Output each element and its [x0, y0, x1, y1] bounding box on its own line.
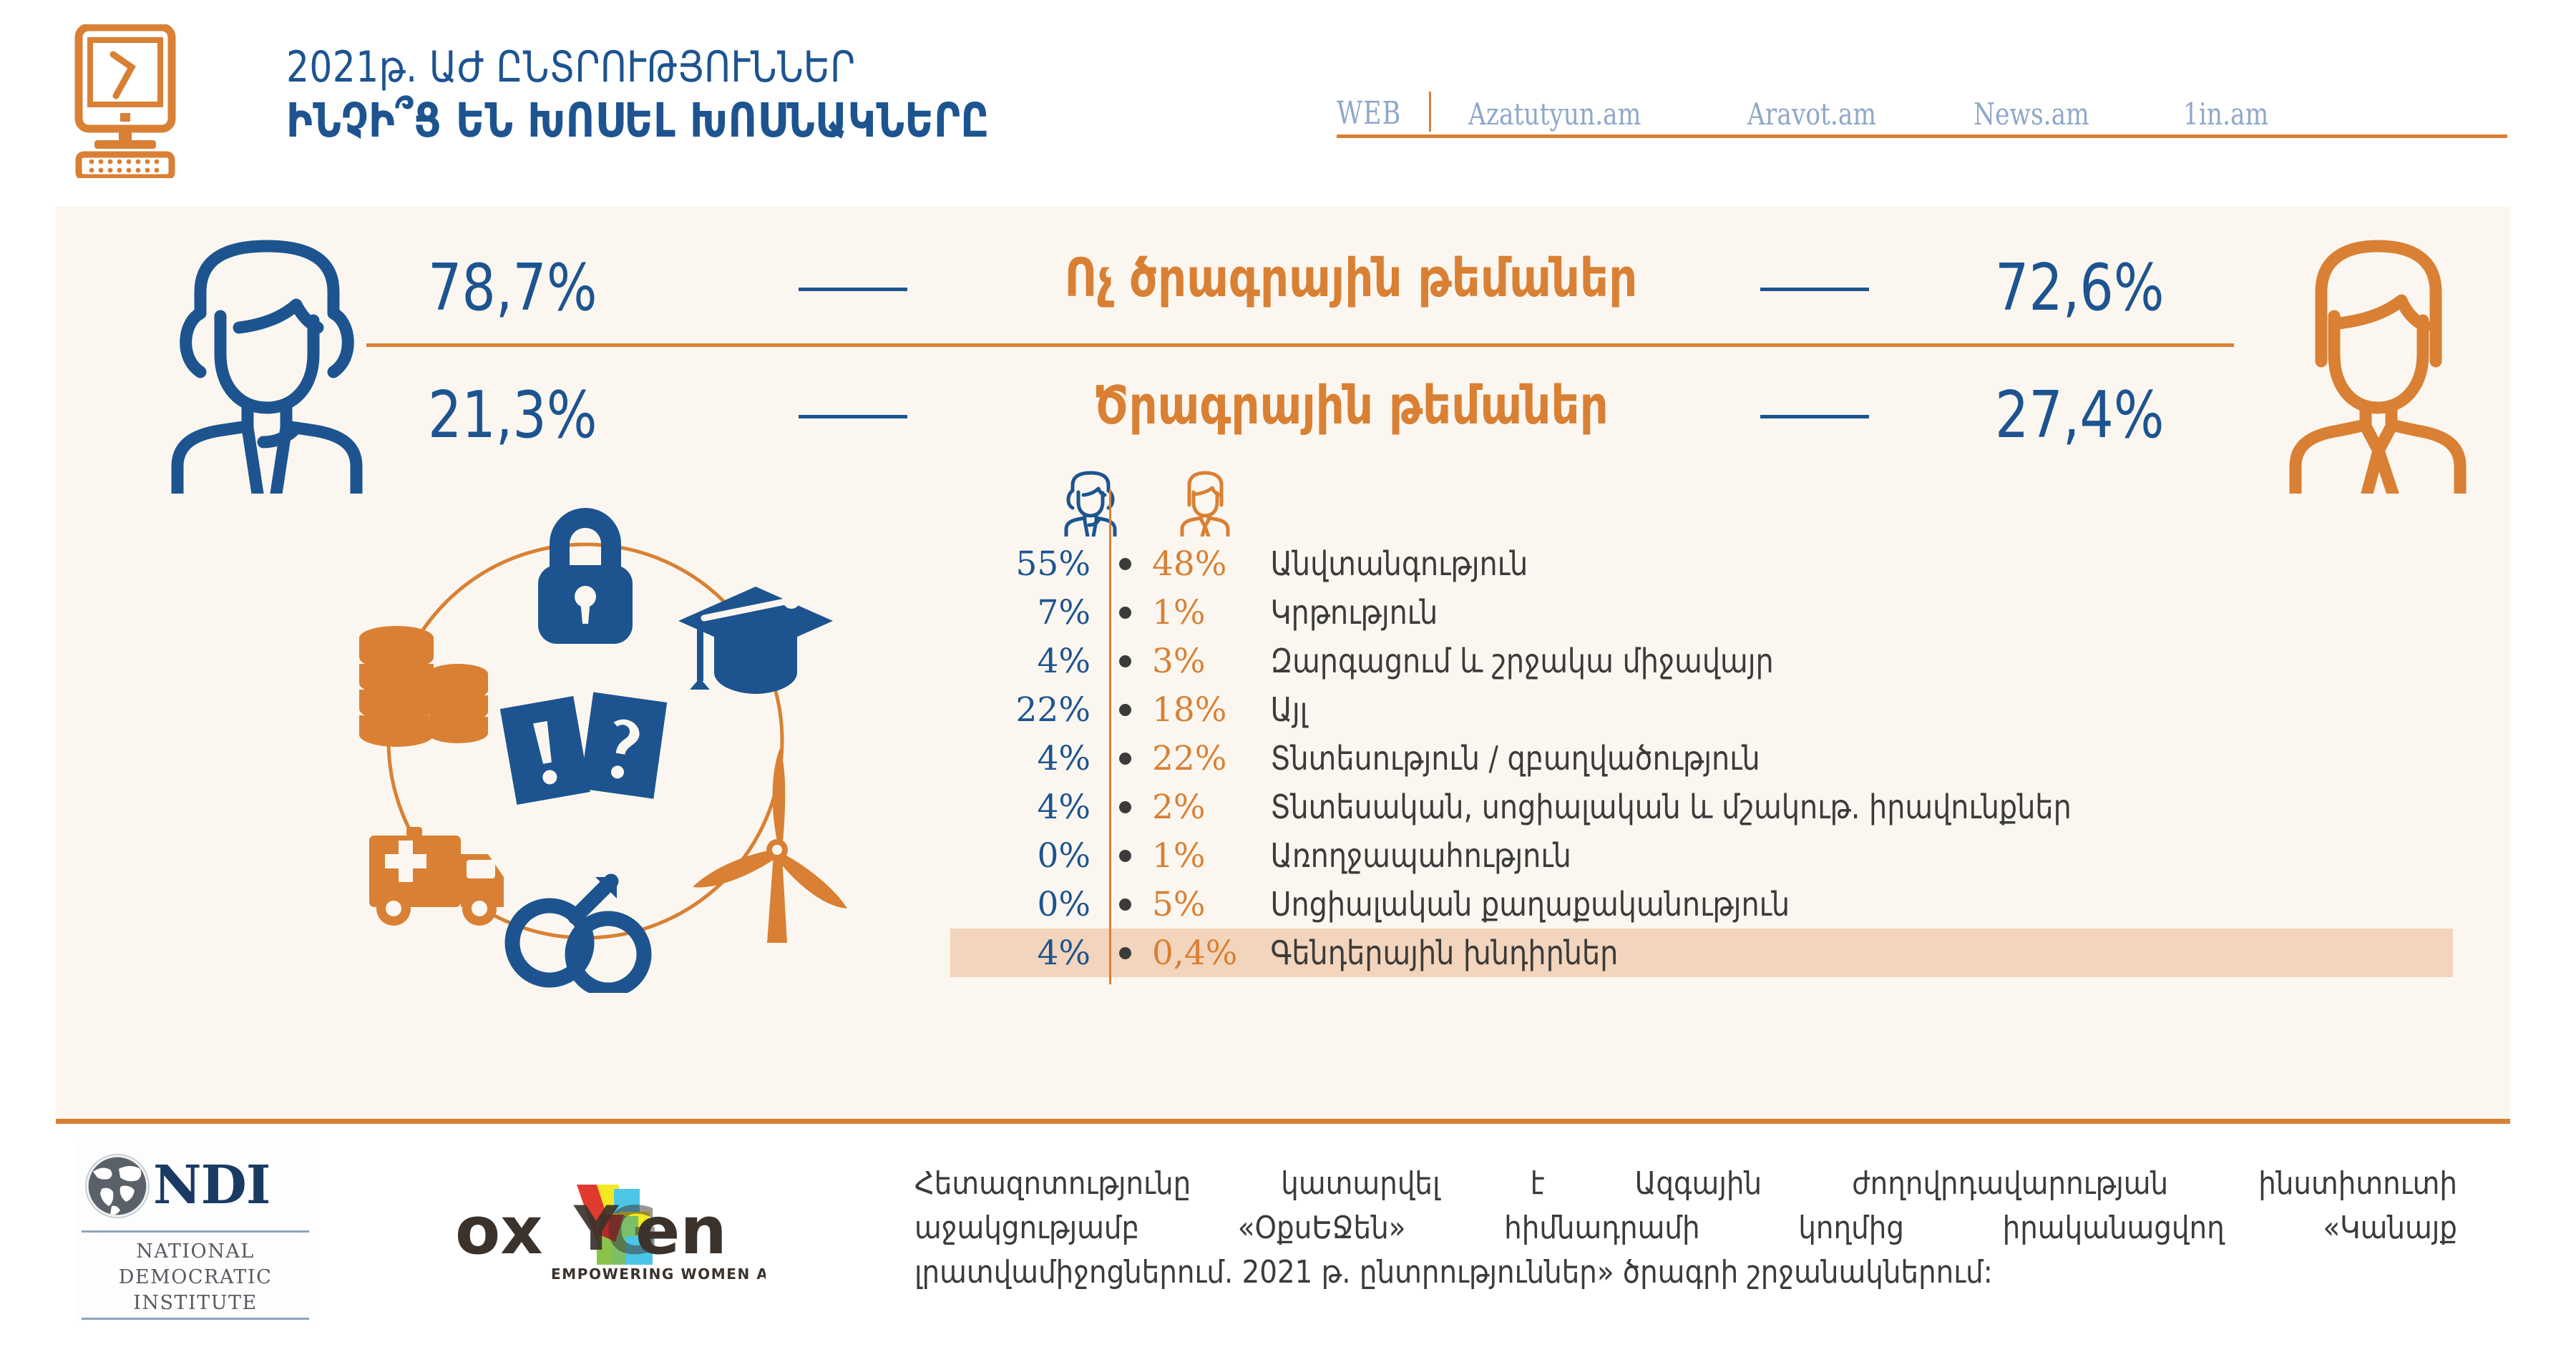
row-marker-wrap [1109, 831, 1141, 880]
male-pct-cell: 2% [1141, 788, 1261, 827]
ndi-rule-bottom [82, 1318, 309, 1320]
connector-dash-right-2 [1760, 415, 1869, 418]
topic-label-cell: Գենդերային խնդիրներ [1261, 934, 2405, 972]
footer-note-line-2: աջակցությամբ«ՕքսԵՋեն»հիմնադրամիկողմիցիրա… [914, 1206, 2457, 1250]
table-row: 0%5%Սոցիալական քաղաքականություն [950, 880, 2453, 929]
graduation-cap-icon [678, 587, 833, 694]
female-pct-cell: 4% [950, 739, 1109, 778]
row-dot-marker [1119, 753, 1131, 765]
female-pct-program: 21,3% [428, 378, 638, 453]
male-pct-cell: 3% [1141, 642, 1261, 681]
wind-turbine-icon [693, 748, 847, 943]
table-header-icons [950, 471, 2453, 539]
table-row: 22%18%Այլ [950, 685, 2453, 734]
topic-label-cell: Տնտեսություն / զբաղվածություն [1261, 739, 2405, 778]
ndi-name-line-3: INSTITUTE [77, 1290, 313, 1316]
web-label: WEB [1337, 95, 1410, 132]
table-row: 4%22%Տնտեսություն / զբաղվածություն [950, 734, 2453, 783]
comparison-label-non-program: Ոչ ծրագրային թեմաներ [1001, 248, 1701, 309]
male-pct-cell: 1% [1141, 593, 1261, 632]
row-marker-wrap [1109, 637, 1141, 685]
oxygen-logo: ox en Y G EMPOWERING WOMEN AND YOUTH [444, 1173, 766, 1288]
topic-label-cell: Առողջապահություն [1261, 836, 2405, 875]
web-divider [1429, 92, 1431, 132]
male-pct-cell: 22% [1141, 739, 1261, 778]
row-marker-wrap [1109, 588, 1141, 637]
row-dot-marker [1119, 850, 1131, 862]
row-dot-marker [1119, 607, 1131, 619]
table-row: 4%2%Տնտեսական, սոցիալական և մշակութ. իրա… [950, 783, 2453, 831]
female-pct-cell: 4% [950, 788, 1109, 827]
table-row: 4%3%Զարգացում և շրջակա միջավայր [950, 637, 2453, 685]
footer-note-line-3: լրատվամիջոցներում. 2021 թ. ընտրություննե… [914, 1250, 2457, 1295]
table-row: 4%0,4%Գենդերային խնդիրներ [950, 929, 2453, 977]
topic-label-cell: Տնտեսական, սոցիալական և մշակութ. իրավուն… [1261, 788, 2405, 826]
oxygen-tagline: EMPOWERING WOMEN AND YOUTH [551, 1265, 766, 1283]
row-marker-wrap [1109, 929, 1141, 977]
male-head-icon [1172, 471, 1238, 537]
footer-divider [56, 1119, 2510, 1124]
connector-dash-left [799, 288, 907, 291]
male-pct-non-program: 72,6% [1995, 250, 2212, 325]
row-dot-marker [1119, 704, 1131, 716]
connector-dash-right [1760, 288, 1869, 291]
row-marker-wrap [1109, 783, 1141, 831]
table-row: 7%1%Կրթություն [950, 588, 2453, 637]
infographic-page: 2021թ. ԱԺ ԸՆՏՐՈՒԹՅՈՒՆՆԵՐ ԻՆՉԻ՞Ց ԵՆ ԽՈՍԵԼ… [0, 0, 2576, 1352]
title-line-1: 2021թ. ԱԺ ԸՆՏՐՈՒԹՅՈՒՆՆԵՐ [286, 41, 1231, 93]
table-row: 0%1%Առողջապահություն [950, 831, 2453, 880]
topic-label-cell: Սոցիալական քաղաքականություն [1261, 885, 2405, 924]
male-pct-cell: 18% [1141, 690, 1261, 730]
oxygen-wordmark-g: G [605, 1192, 660, 1269]
web-link-aravot[interactable]: Aravot.am [1747, 97, 1876, 132]
header: 2021թ. ԱԺ ԸՆՏՐՈՒԹՅՈՒՆՆԵՐ ԻՆՉԻ՞Ց ԵՆ ԽՈՍԵԼ… [0, 0, 2576, 206]
row-dot-marker [1119, 947, 1131, 959]
table-row: 55%48%Անվտանգություն [950, 539, 2453, 588]
ambulance-icon [369, 827, 504, 926]
footer-note: ՀետազոտությունըկատարվելէԱզգայինժողովրդավ… [914, 1162, 2457, 1295]
topics-breakdown-table: 55%48%Անվտանգություն7%1%Կրթություն4%3%Զա… [950, 471, 2453, 977]
ndi-rule-top [82, 1230, 309, 1233]
male-pct-program: 27,4% [1995, 378, 2212, 453]
row-marker-wrap [1109, 880, 1141, 929]
female-pct-cell: 4% [950, 642, 1109, 681]
oxygen-wordmark-ox: ox [455, 1192, 543, 1269]
ndi-acronym: NDI [153, 1155, 270, 1216]
topic-label-cell: Անվտանգություն [1261, 544, 2405, 583]
female-pct-cell: 22% [950, 690, 1109, 730]
ndi-full-name: NATIONAL DEMOCRATIC INSTITUTE [77, 1239, 313, 1316]
female-pct-cell: 7% [950, 593, 1109, 632]
table-rows: 55%48%Անվտանգություն7%1%Կրթություն4%3%Զա… [950, 539, 2453, 977]
row-dot-marker [1119, 801, 1131, 813]
lock-icon [538, 508, 633, 644]
title-line-2: ԻՆՉԻ՞Ց ԵՆ ԽՈՍԵԼ ԽՈՍՆԱԿՆԵՐԸ [286, 93, 1231, 149]
comparison-label-program: Ծրագրային թեմաներ [1001, 375, 1701, 436]
web-sources-nav: WEB Azatutyun.am Aravot.am News.am 1in.a… [1337, 76, 2510, 132]
web-link-azatutyun[interactable]: Azatutyun.am [1468, 97, 1641, 132]
connector-dash-left-2 [799, 415, 907, 418]
ndi-name-line-1: NATIONAL [77, 1239, 313, 1265]
male-pct-cell: 1% [1141, 836, 1261, 876]
ndi-logo-top: NDI [77, 1142, 313, 1228]
topic-label-cell: Զարգացում և շրջակա միջավայր [1261, 642, 2405, 680]
row-dot-marker [1119, 655, 1131, 667]
female-pct-cell: 0% [950, 885, 1109, 924]
row-dot-marker [1119, 558, 1131, 570]
table-center-line [1109, 489, 1111, 984]
topic-label-cell: Այլ [1261, 690, 2405, 729]
topic-label-cell: Կրթություն [1261, 593, 2405, 632]
page-title: 2021թ. ԱԺ ԸՆՏՐՈՒԹՅՈՒՆՆԵՐ ԻՆՉԻ՞Ց ԵՆ ԽՈՍԵԼ… [286, 41, 1302, 149]
row-marker-wrap [1109, 685, 1141, 734]
row-marker-wrap [1109, 539, 1141, 588]
female-pct-cell: 55% [950, 544, 1109, 584]
topics-circle-diagram [299, 492, 872, 993]
globe-icon [80, 1147, 155, 1223]
footer-note-line-1: ՀետազոտությունըկատարվելէԱզգայինժողովրդավ… [914, 1162, 2457, 1206]
row-marker-wrap [1109, 734, 1141, 783]
coins-icon [359, 626, 488, 747]
male-pct-cell: 48% [1141, 544, 1261, 584]
web-link-1in[interactable]: 1in.am [2183, 97, 2268, 132]
ndi-logo: NDI NATIONAL DEMOCRATIC INSTITUTE [77, 1142, 313, 1321]
ndi-name-line-2: DEMOCRATIC [77, 1265, 313, 1290]
comparison-row-non-program: 78,7% Ոչ ծրագրային թեմաներ 72,6% [56, 243, 2510, 336]
female-pct-cell: 4% [950, 934, 1109, 973]
comparison-divider [366, 343, 2234, 347]
exclamation-question-cards-icon [500, 692, 667, 805]
female-pct-cell: 0% [950, 836, 1109, 876]
male-pct-cell: 5% [1141, 885, 1261, 924]
web-link-news[interactable]: News.am [1974, 97, 2089, 132]
monitor-icon [69, 24, 219, 178]
comparison-row-program: 21,3% Ծրագրային թեմաներ 27,4% [56, 371, 2510, 464]
main-panel: 78,7% Ոչ ծրագրային թեմաներ 72,6% 21,3% Ծ… [56, 206, 2510, 1119]
female-pct-non-program: 78,7% [428, 250, 638, 325]
row-dot-marker [1119, 898, 1131, 911]
male-pct-cell: 0,4% [1141, 934, 1261, 973]
web-nav-underline [1337, 134, 2507, 138]
female-head-icon [1058, 471, 1123, 537]
